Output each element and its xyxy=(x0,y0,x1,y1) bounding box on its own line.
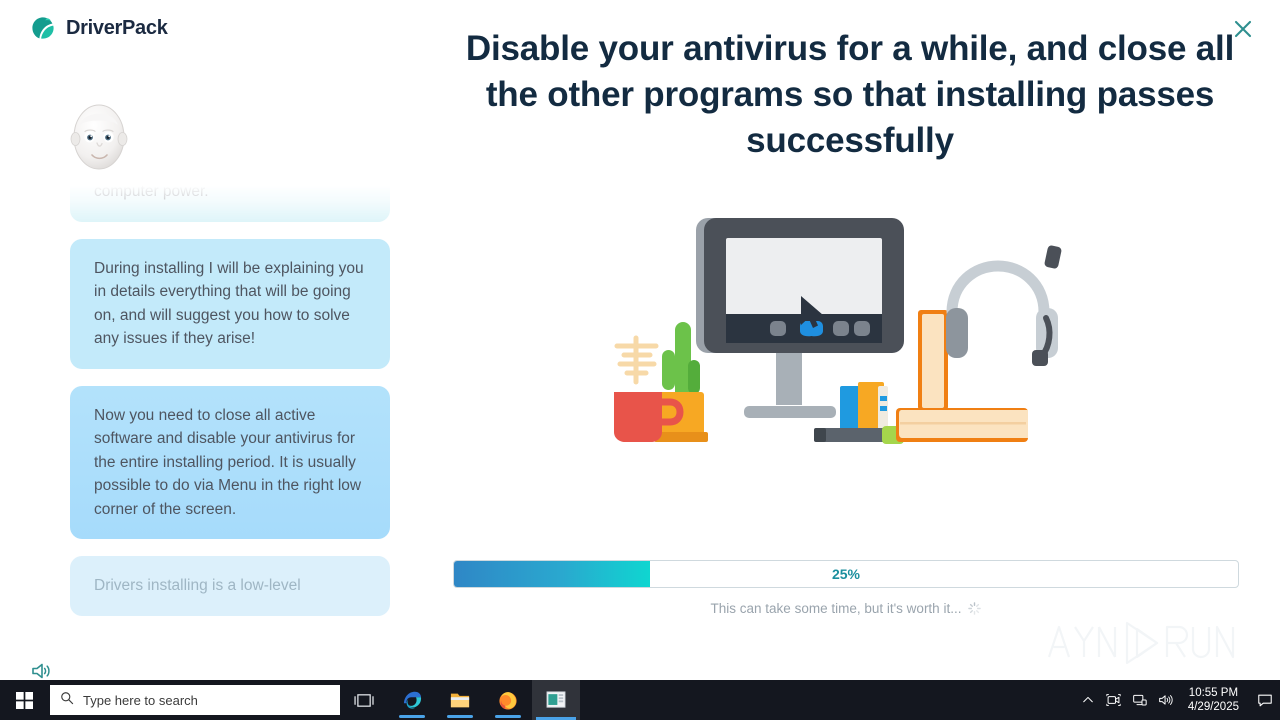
file-explorer-icon[interactable] xyxy=(436,680,484,720)
anyrun-watermark xyxy=(1045,617,1235,669)
progress-percent: 25% xyxy=(454,561,1238,587)
progress-area: 25% This can take some time, but it's wo… xyxy=(453,560,1239,616)
volume-icon[interactable] xyxy=(1153,680,1179,720)
windows-taskbar: Type here to search xyxy=(0,680,1280,720)
system-tray: 10:55 PM 4/29/2025 xyxy=(1075,680,1280,720)
camera-recording-icon[interactable] xyxy=(1101,680,1127,720)
chat-message: Drivers installing is a low-level xyxy=(70,556,390,616)
loading-spinner-icon xyxy=(968,602,981,615)
assistant-tools xyxy=(30,660,52,680)
chat-message-list: properly, it is important not to interru… xyxy=(0,185,420,616)
search-magnifier-icon xyxy=(60,691,74,710)
progress-hint-text: This can take some time, but it's worth … xyxy=(711,601,962,616)
firefox-icon[interactable] xyxy=(484,680,532,720)
assistant-panel: properly, it is important not to interru… xyxy=(0,80,420,680)
search-input[interactable]: Type here to search xyxy=(50,685,340,715)
main-panel: Disable your antivirus for a while, and … xyxy=(420,0,1280,680)
driverpack-window: DriverPack xyxy=(0,0,1280,680)
microsoft-edge-icon[interactable] xyxy=(388,680,436,720)
clock-time: 10:55 PM xyxy=(1188,686,1239,700)
windows-start-icon[interactable] xyxy=(0,680,48,720)
search-placeholder: Type here to search xyxy=(83,693,198,708)
sound-speaker-icon[interactable] xyxy=(30,660,52,680)
progress-hint: This can take some time, but it's worth … xyxy=(453,601,1239,616)
page-title: Disable your antivirus for a while, and … xyxy=(450,26,1250,164)
screen: DriverPack xyxy=(0,0,1280,720)
network-icon[interactable] xyxy=(1127,680,1153,720)
brand-logo-group: DriverPack xyxy=(30,15,168,41)
action-center-icon[interactable] xyxy=(1250,680,1280,720)
driverpack-swirl-icon xyxy=(30,15,56,41)
brand-name: DriverPack xyxy=(66,17,168,40)
chat-scroll-area[interactable]: properly, it is important not to interru… xyxy=(0,185,420,680)
clock-date: 4/29/2025 xyxy=(1188,700,1239,714)
desk-monitor-illustration xyxy=(600,210,1100,470)
avatar xyxy=(68,95,130,175)
show-hidden-icons-chevron[interactable] xyxy=(1075,680,1101,720)
task-view-icon[interactable] xyxy=(340,680,388,720)
chat-message: Now you need to close all active softwar… xyxy=(70,386,390,540)
driverpack-window-icon[interactable] xyxy=(532,680,580,720)
taskbar-clock[interactable]: 10:55 PM 4/29/2025 xyxy=(1179,686,1250,714)
chat-message: During installing I will be explaining y… xyxy=(70,239,390,369)
chat-message: properly, it is important not to interru… xyxy=(70,185,390,222)
progress-bar: 25% xyxy=(453,560,1239,588)
